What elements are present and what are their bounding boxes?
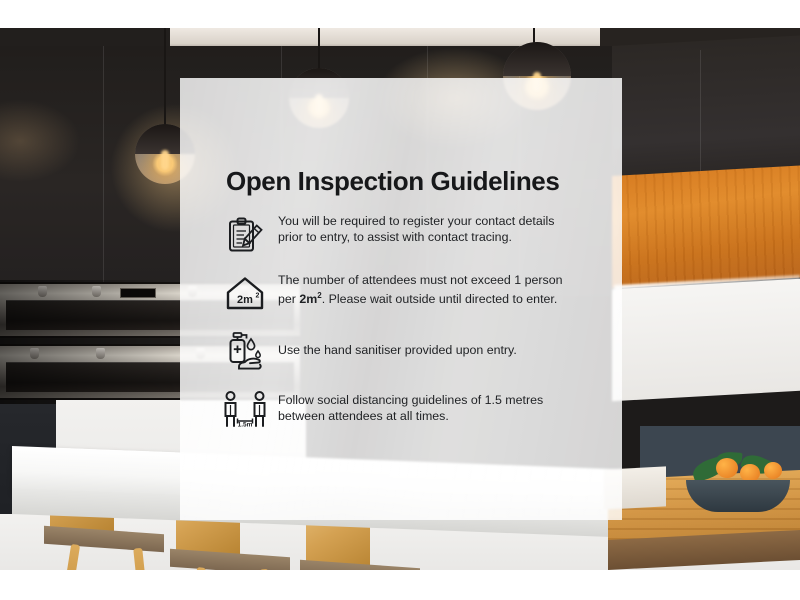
- oven-knob: [38, 286, 47, 297]
- cabinet-seam: [103, 46, 104, 296]
- guideline-text: Follow social distancing guidelines of 1…: [272, 386, 598, 424]
- oven-knob: [30, 348, 39, 359]
- guideline-item-social-distancing: 1.5m Follow social distancing guidelines…: [218, 386, 598, 438]
- house-icon-label-superscript: 2: [256, 293, 260, 300]
- clipboard-pencil-icon: [218, 212, 272, 260]
- guideline-line-2: between attendees at all times.: [278, 409, 449, 423]
- guideline-item-sanitiser: Use the hand sanitiser provided upon ent…: [218, 328, 598, 380]
- guidelines-list: You will be required to register your co…: [218, 212, 598, 444]
- guideline-line-2-suffix: . Please wait outside until directed to …: [322, 292, 558, 306]
- guideline-line-1: The number of attendees must not exceed …: [278, 273, 562, 287]
- social-distancing-icon: 1.5m: [218, 386, 272, 434]
- guideline-line-2-prefix: per: [278, 292, 299, 306]
- guideline-line-2: prior to entry, to assist with contact t…: [278, 230, 512, 244]
- marble-splashback: [612, 279, 800, 402]
- timber-overhead-cabinet: [612, 165, 800, 288]
- cabinet-seam: [700, 50, 701, 190]
- page-title: Open Inspection Guidelines: [226, 166, 559, 197]
- orange-fruit: [716, 458, 738, 478]
- oven-knob: [92, 286, 101, 297]
- guideline-item-occupancy: 2m 2 The number of attendees must not ex…: [218, 270, 598, 322]
- guideline-line-1: You will be required to register your co…: [278, 214, 554, 228]
- guideline-emphasis: 2m: [299, 292, 317, 306]
- guideline-text: Use the hand sanitiser provided upon ent…: [272, 328, 598, 358]
- guidelines-panel: Open Inspection Guidelines: [180, 78, 622, 520]
- screenshot-root: Open Inspection Guidelines: [0, 0, 800, 600]
- house-2m2-icon: 2m 2: [218, 270, 272, 318]
- house-icon-label: 2m: [237, 294, 253, 306]
- pendant-cord: [318, 28, 320, 72]
- guideline-item-register-details: You will be required to register your co…: [218, 212, 598, 264]
- guideline-line-1: Follow social distancing guidelines of 1…: [278, 393, 543, 407]
- orange-fruit: [764, 462, 782, 479]
- timber-grain: [612, 165, 800, 288]
- fruit-bowl: [686, 480, 790, 512]
- dark-cabinet-right: [612, 35, 800, 186]
- pendant-cord: [164, 28, 166, 128]
- pendant-filament: [161, 150, 169, 170]
- pendant-cap: [503, 42, 571, 76]
- hand-sanitiser-icon: [218, 328, 272, 376]
- distance-label: 1.5m: [238, 422, 253, 429]
- guideline-text: You will be required to register your co…: [272, 212, 598, 245]
- guideline-text: The number of attendees must not exceed …: [272, 270, 598, 307]
- guideline-line-1: Use the hand sanitiser provided upon ent…: [278, 343, 517, 357]
- oven-display: [120, 288, 156, 298]
- oven-knob: [96, 348, 105, 359]
